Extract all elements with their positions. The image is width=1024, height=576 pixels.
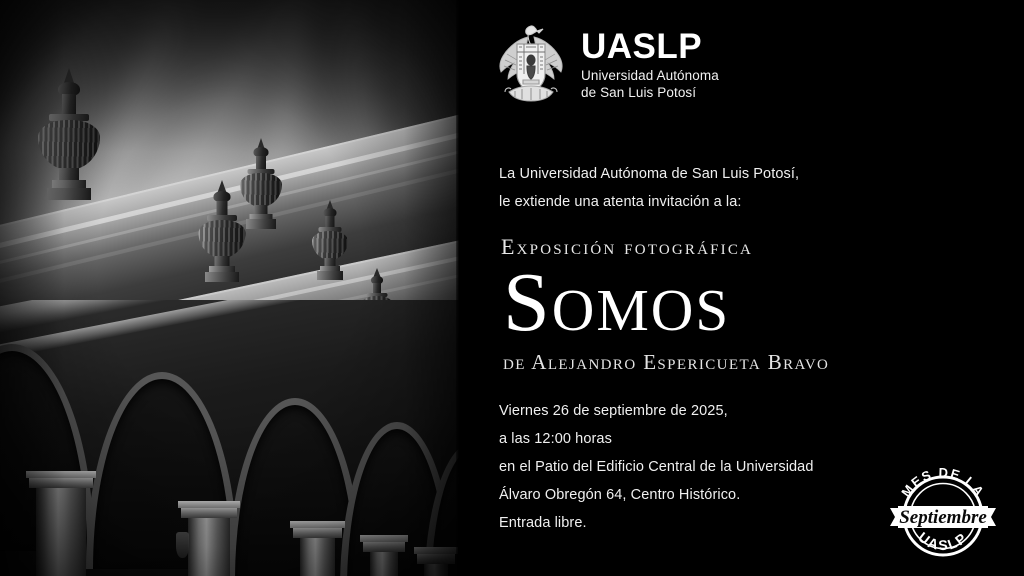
- wall-lantern: [176, 532, 189, 558]
- event-details: Viernes 26 de septiembre de 2025, a las …: [499, 398, 814, 538]
- stone-urn-1: [34, 68, 104, 198]
- stamp-top-text: MES DE LA: [898, 465, 988, 500]
- content-panel: UASLP Universidad Autónoma de San Luis P…: [459, 0, 1024, 576]
- arcade-column-5: [424, 564, 448, 576]
- column-abacus: [290, 521, 345, 528]
- stone-urn-3: [238, 138, 284, 230]
- column-capital: [363, 541, 405, 552]
- invitation-line-2: le extiende una atenta invitación a la:: [499, 188, 799, 216]
- mes-de-la-uaslp-stamp: MES DE LA UASLP Septiembre: [884, 464, 1002, 560]
- column-capital: [293, 527, 342, 538]
- arcade: [0, 300, 459, 576]
- arcade-column-2: [188, 518, 230, 576]
- invitation-text: La Universidad Autónoma de San Luis Poto…: [499, 160, 799, 217]
- event-details-line-5: Entrada libre.: [499, 510, 814, 538]
- event-details-line-1: Viernes 26 de septiembre de 2025,: [499, 398, 814, 426]
- column-abacus: [26, 471, 96, 478]
- column-capital: [417, 553, 455, 564]
- photograph: [0, 0, 459, 576]
- poster-canvas: UASLP Universidad Autónoma de San Luis P…: [0, 0, 1024, 576]
- stone-urn-4: [310, 200, 350, 280]
- uaslp-crest-icon: [495, 22, 567, 108]
- exhibition-author: de Alejandro Espericueta Bravo: [503, 350, 829, 375]
- exhibition-title: Somos: [503, 258, 730, 347]
- arcade-column-4: [370, 552, 398, 576]
- uaslp-logo: UASLP Universidad Autónoma de San Luis P…: [495, 22, 719, 108]
- arcade-column-3: [300, 538, 335, 576]
- logo-subtitle: Universidad Autónoma de San Luis Potosí: [581, 67, 719, 102]
- column-abacus: [360, 535, 408, 542]
- logo-wordmark: UASLP Universidad Autónoma de San Luis P…: [581, 29, 719, 101]
- stamp-ribbon-text: Septiembre: [899, 507, 987, 528]
- event-details-line-4: Álvaro Obregón 64, Centro Histórico.: [499, 482, 814, 510]
- column-abacus: [178, 501, 240, 508]
- logo-subtitle-line2: de San Luis Potosí: [581, 84, 719, 101]
- column-capital: [29, 477, 93, 488]
- stamp-badge-icon: MES DE LA UASLP Septiembre: [884, 464, 1002, 560]
- arcade-column-1: [36, 488, 86, 576]
- column-abacus: [414, 547, 458, 554]
- logo-acronym: UASLP: [581, 29, 719, 65]
- event-details-line-3: en el Patio del Edificio Central de la U…: [499, 454, 814, 482]
- invitation-line-1: La Universidad Autónoma de San Luis Poto…: [499, 160, 799, 188]
- event-details-line-2: a las 12:00 horas: [499, 426, 814, 454]
- logo-subtitle-line1: Universidad Autónoma: [581, 67, 719, 84]
- column-capital: [181, 507, 237, 518]
